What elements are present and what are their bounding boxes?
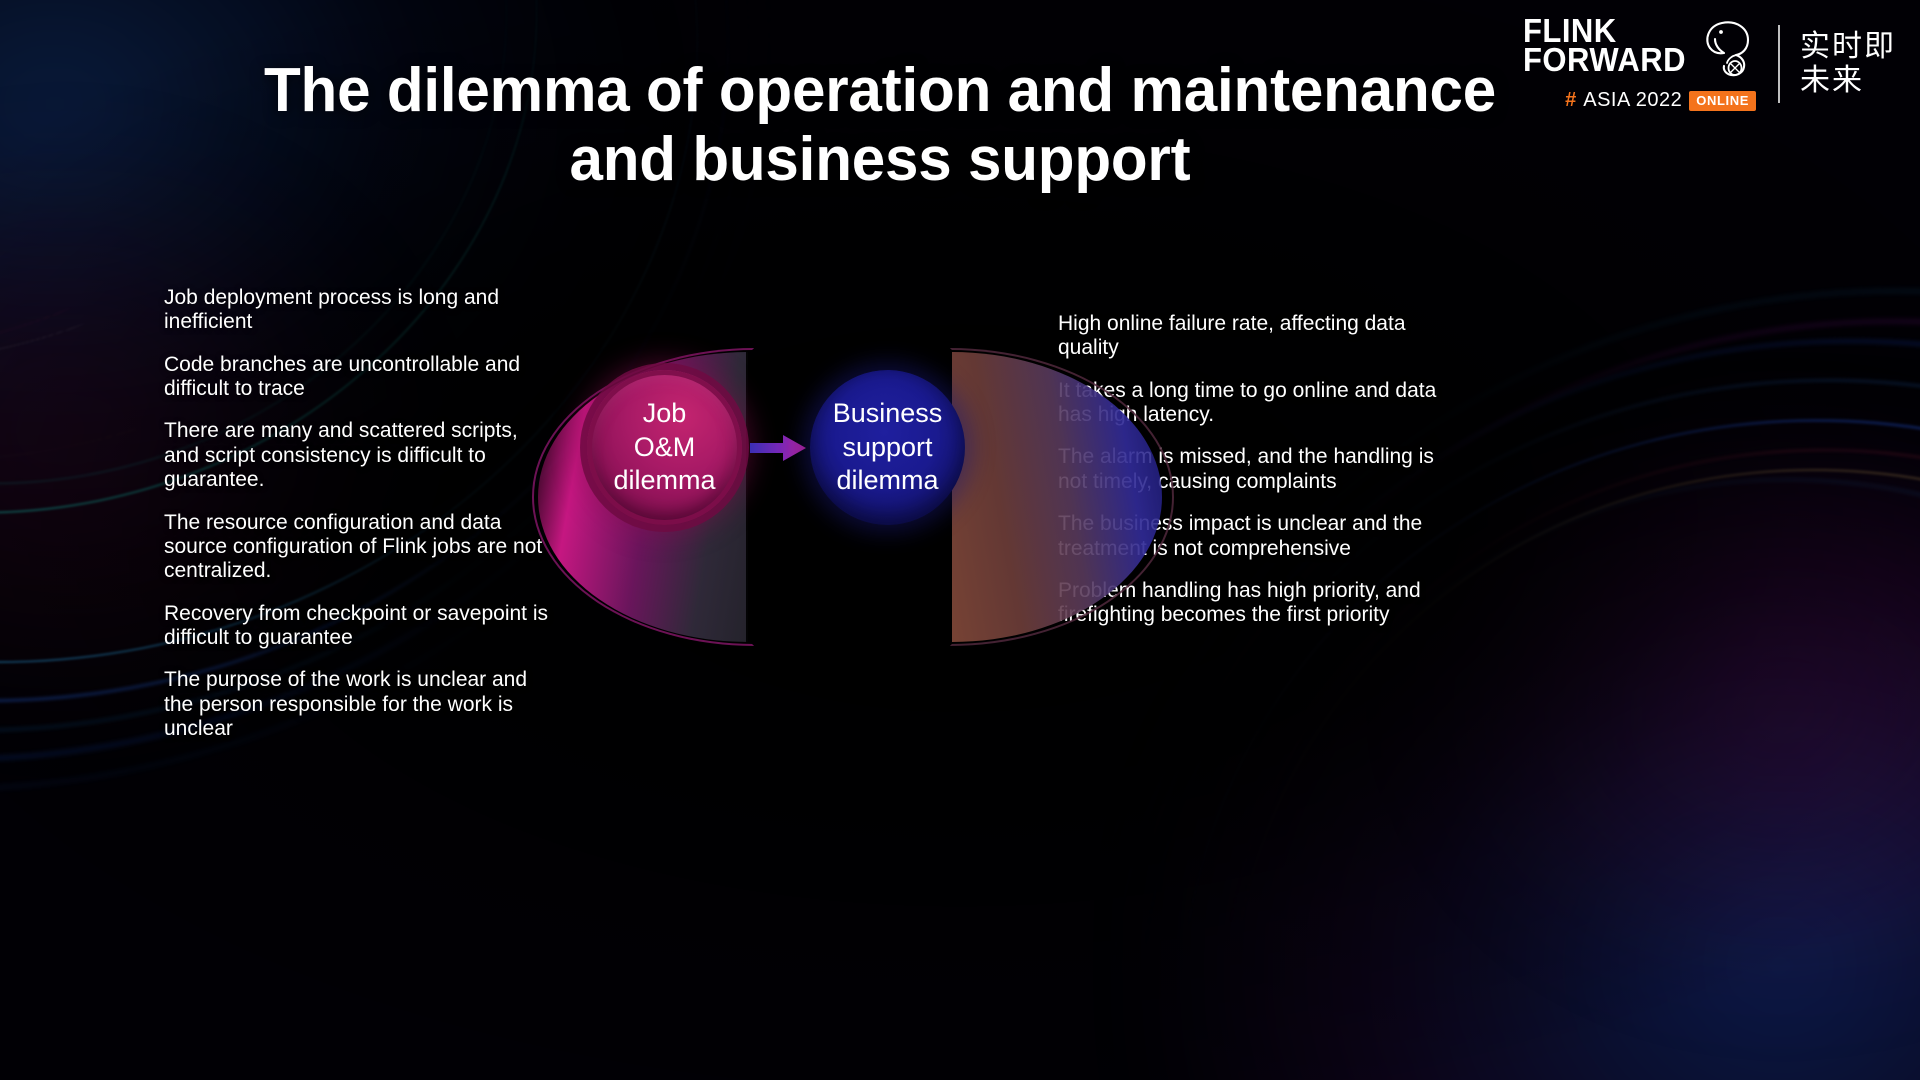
slide-root: FLINK FORWARD # ASIA 2022 — [0, 0, 1920, 1080]
left-pain-points-column: Job deployment process is long and ineff… — [164, 286, 554, 741]
node-business-support-label: Business support dilemma — [833, 397, 943, 498]
squirrel-icon — [1698, 18, 1756, 85]
list-item: Code branches are uncontrollable and dif… — [164, 353, 554, 402]
logo-text-block: FLINK FORWARD # ASIA 2022 — [1523, 16, 1756, 112]
logo-edition-text: ASIA 2022 — [1583, 89, 1682, 112]
logo-subline: # ASIA 2022 ONLINE — [1565, 89, 1756, 112]
node-job-om-dilemma: Job O&M dilemma — [587, 370, 742, 525]
right-arrow-icon — [750, 434, 806, 462]
node-job-om-label: Job O&M dilemma — [613, 397, 715, 498]
list-item: There are many and scattered scripts, an… — [164, 419, 554, 492]
logo-tagline-chinese: 实时即 未来 — [1800, 30, 1896, 97]
list-item: The purpose of the work is unclear and t… — [164, 668, 554, 741]
logo-forward-text: FORWARD — [1523, 45, 1686, 74]
dilemma-diagram: Job O&M dilemma Business suppo — [520, 330, 1080, 660]
list-item: The resource configuration and data sour… — [164, 511, 554, 584]
logo-wordmark-row: FLINK FORWARD — [1523, 16, 1756, 85]
list-item: Recovery from checkpoint or savepoint is… — [164, 602, 554, 651]
logo-online-badge: ONLINE — [1689, 91, 1756, 111]
node-business-support-line-3: dilemma — [833, 464, 943, 498]
node-job-om-line-3: dilemma — [613, 464, 715, 498]
flink-forward-logo: FLINK FORWARD # ASIA 2022 — [1523, 16, 1896, 112]
glow-bottom-right-secondary — [1400, 400, 1920, 1020]
node-job-om-line-1: Job — [613, 397, 715, 431]
node-business-support-line-1: Business — [833, 397, 943, 431]
logo-tagline-line-2: 未来 — [1800, 64, 1896, 98]
logo-divider — [1778, 25, 1780, 103]
node-job-om-line-2: O&M — [613, 431, 715, 465]
list-item: High online failure rate, affecting data… — [1058, 312, 1458, 361]
logo-hash-symbol: # — [1565, 89, 1576, 112]
logo-wordmark: FLINK FORWARD — [1523, 16, 1696, 74]
node-business-support-dilemma: Business support dilemma — [810, 370, 965, 525]
list-item: Job deployment process is long and ineff… — [164, 286, 554, 335]
logo-tagline-line-1: 实时即 — [1800, 30, 1896, 64]
slide-title: The dilemma of operation and maintenance… — [230, 56, 1530, 195]
node-business-support-line-2: support — [833, 431, 943, 465]
